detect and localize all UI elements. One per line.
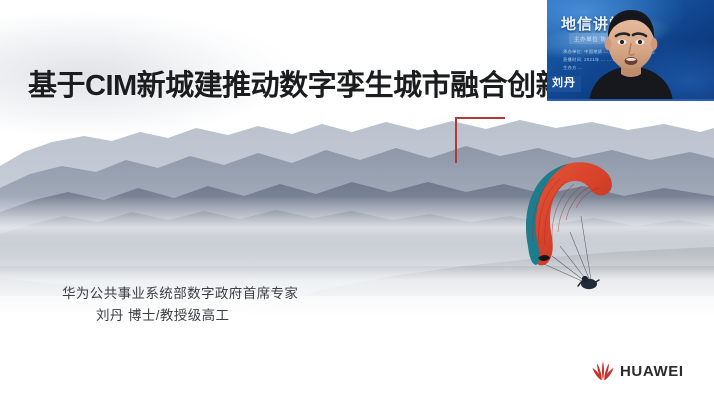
- presenter-affiliation: 华为公共事业系统部数字政府首席专家: [62, 283, 392, 305]
- page-title: 基于CIM新城建推动数字孪生城市融合创新实践: [28, 72, 628, 101]
- presenter-info: 华为公共事业系统部数字政府首席专家 刘丹 博士/教授级高工: [62, 283, 392, 328]
- speaker-video-portrait: [585, 6, 677, 101]
- huawei-logo: HUAWEI: [592, 361, 684, 381]
- presenter-name-title: 刘丹 博士/教授级高工: [62, 305, 392, 327]
- speaker-nametag: 刘丹: [547, 76, 581, 92]
- video-overlay-pip[interactable]: 地信讲堂 主办单位 协会 承办单位: 中国地质 ... ...信息化业工作委员会…: [547, 0, 714, 101]
- huawei-wordmark: HUAWEI: [620, 363, 684, 380]
- paraglider-icon: [486, 150, 646, 295]
- huawei-flower-icon: [592, 361, 614, 381]
- presentation-screenshot: 基于CIM新城建推动数字孪生城市融合创新实践 华为公共事业系统部数字政府首席专家…: [0, 0, 714, 400]
